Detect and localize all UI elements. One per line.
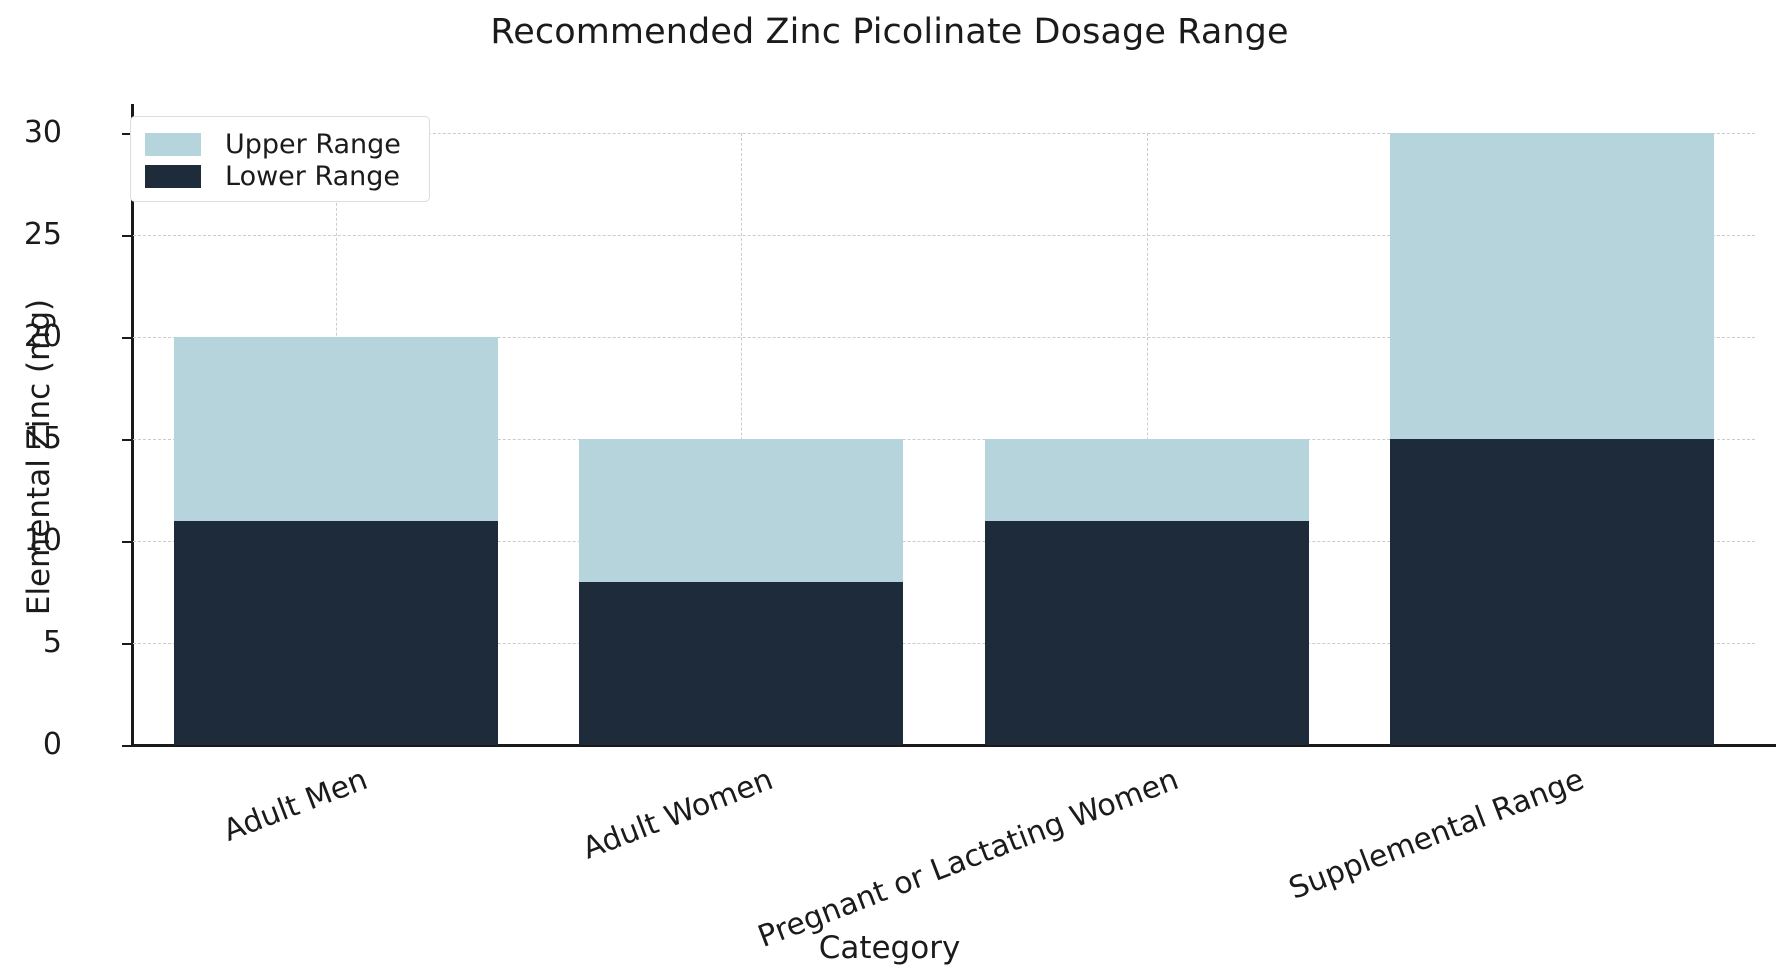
legend-item: Upper Range — [145, 128, 415, 160]
chart-figure: Recommended Zinc Picolinate Dosage Range… — [0, 0, 1779, 979]
bar-segment-lower-range[interactable] — [985, 521, 1309, 745]
legend-label-upper-range: Upper Range — [225, 129, 401, 160]
bar-segment-lower-range[interactable] — [579, 582, 903, 745]
bar-group[interactable] — [1390, 133, 1714, 745]
y-axis-tick-label: 20 — [24, 322, 62, 352]
legend-label-lower-range: Lower Range — [225, 161, 400, 192]
legend-swatch-lower-range — [145, 165, 201, 188]
chart-legend[interactable]: Upper Range Lower Range — [130, 116, 430, 202]
y-axis-tick — [122, 643, 132, 645]
y-axis-tick — [122, 235, 132, 237]
bar-segment-lower-range[interactable] — [174, 521, 498, 745]
bar-group[interactable] — [174, 133, 498, 745]
y-axis-tick — [122, 439, 132, 441]
y-axis-tick-label: 15 — [24, 424, 62, 454]
y-axis-tick — [122, 745, 132, 747]
y-axis-tick-label: 30 — [24, 118, 62, 148]
legend-item: Lower Range — [145, 160, 415, 192]
y-axis-tick — [122, 541, 132, 543]
y-axis-tick-label: 0 — [43, 730, 62, 760]
bar-segment-lower-range[interactable] — [1390, 439, 1714, 745]
legend-swatch-upper-range — [145, 133, 201, 156]
chart-title: Recommended Zinc Picolinate Dosage Range — [0, 12, 1779, 52]
bar-group[interactable] — [579, 133, 903, 745]
plot-area — [133, 133, 1755, 745]
y-axis-tick — [122, 337, 132, 339]
x-axis-tick-label: Adult Men — [24, 762, 372, 924]
bar-group[interactable] — [985, 133, 1309, 745]
y-axis-tick-label: 5 — [43, 628, 62, 658]
y-axis-tick-label: 25 — [24, 220, 62, 250]
y-axis-tick-label: 10 — [24, 526, 62, 556]
